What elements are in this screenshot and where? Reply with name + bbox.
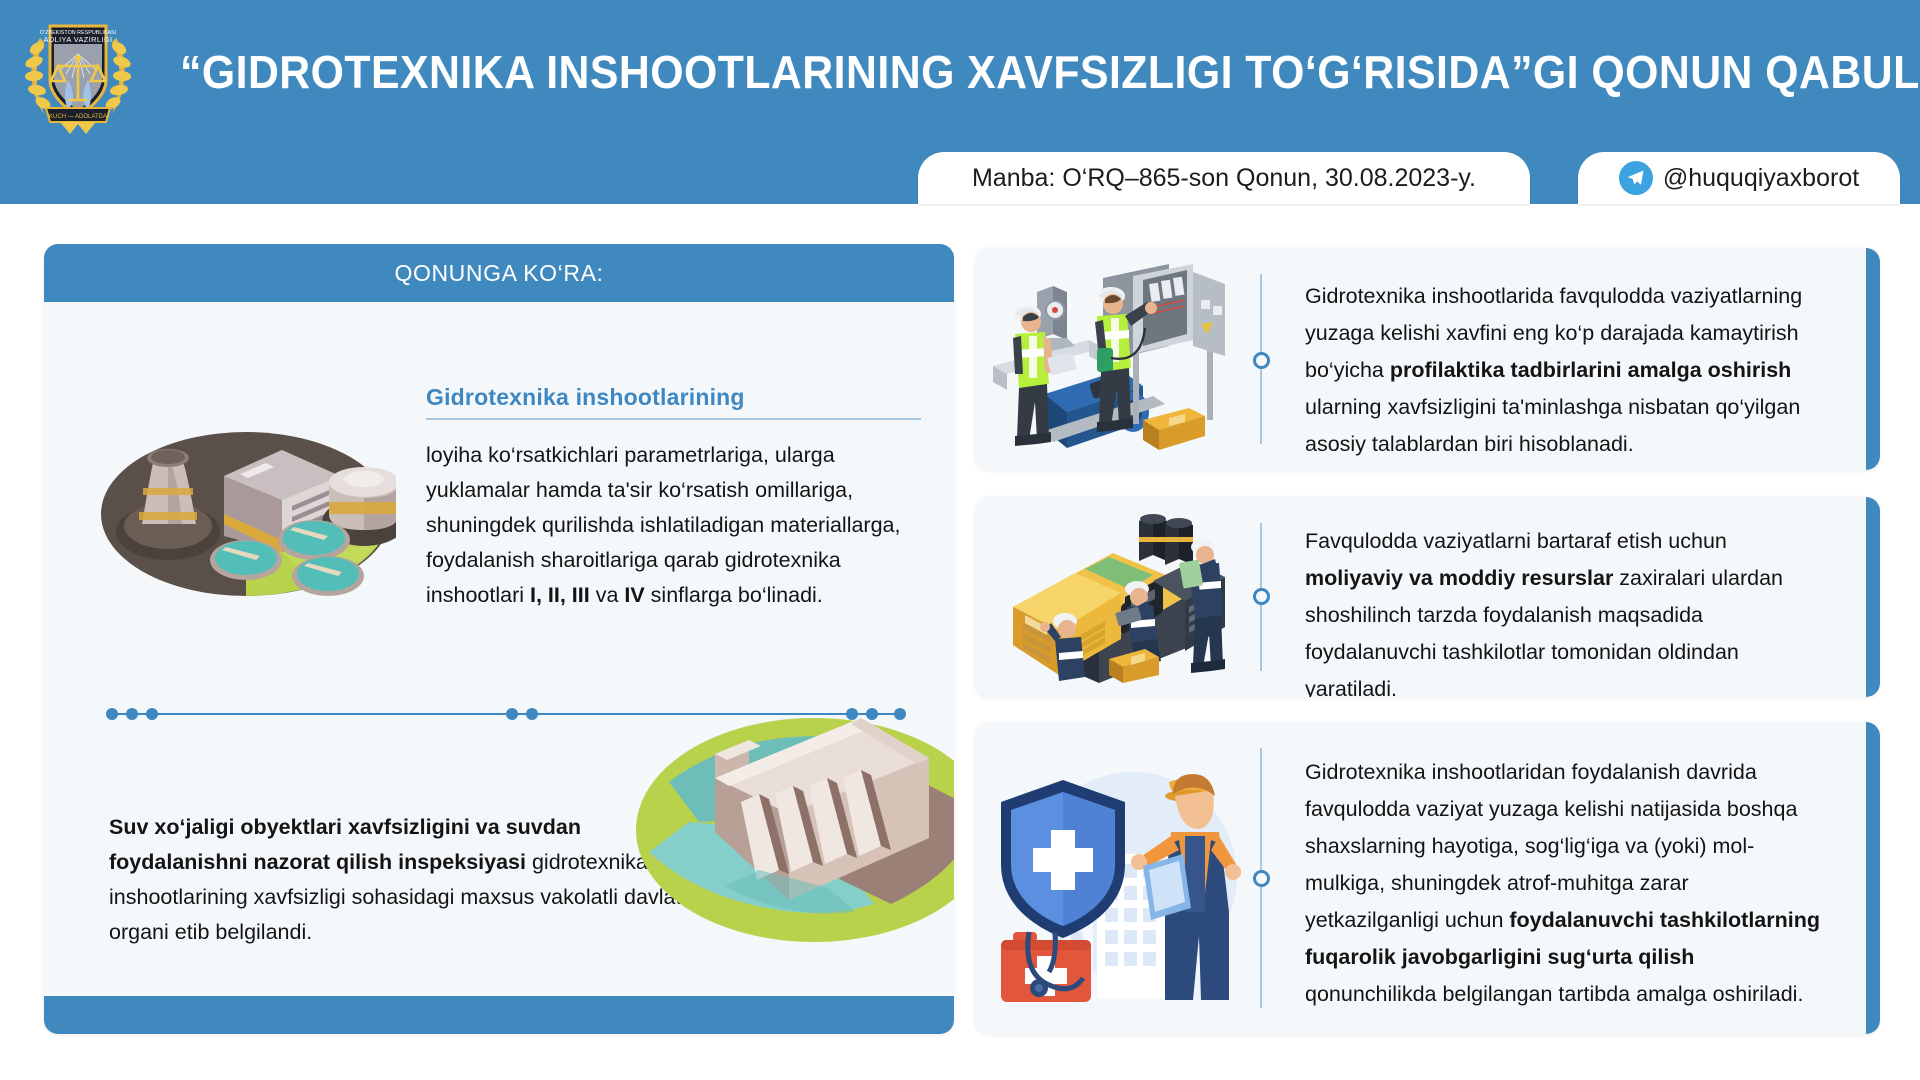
card-text: Gidrotexnika inshootlarida favqulodda va… xyxy=(1305,278,1825,463)
card-text: Favqulodda vaziyatlarni bartaraf etish u… xyxy=(1305,523,1825,697)
paragraph-bottom: Suv xo‘jaligi obyektlari xavfsizligini v… xyxy=(109,810,689,950)
card-bullet-dot xyxy=(1253,870,1270,887)
divider-dot xyxy=(526,708,538,720)
divider-dot xyxy=(106,708,118,720)
card-accent-bar xyxy=(1866,722,1880,1034)
panel-footer-bar xyxy=(44,996,954,1034)
workers-generator-illustration xyxy=(993,511,1243,683)
sub-heading: Gidrotexnika inshootlarining xyxy=(426,384,926,411)
panel-heading: QONUNGA KO‘RA: xyxy=(44,244,954,302)
panel-body: Gidrotexnika inshootlarining loyiha ko‘r… xyxy=(44,302,954,996)
industrial-plant-illustration xyxy=(96,364,396,604)
emblem-ribbon-text: KUCH — ADOLATDA xyxy=(49,114,107,120)
paragraph-top: loyiha ko‘rsatkichlari parametrlariga, u… xyxy=(426,438,936,613)
source-text: Manba: O‘RQ–865-son Qonun, 30.08.2023-y. xyxy=(972,164,1476,193)
info-card: Gidrotexnika inshootlaridan foydalanish … xyxy=(975,722,1880,1034)
card-accent-bar xyxy=(1866,248,1880,470)
card-accent-bar xyxy=(1866,497,1880,697)
emblem-main-text: ADLIYA VAZIRLIGI xyxy=(44,35,113,44)
ministry-of-justice-emblem: O‘ZBEKISTON RESPUBLIKASI ADLIYA VAZIRLIG… xyxy=(20,8,136,134)
sub-heading-rule xyxy=(426,418,921,420)
info-card: Favqulodda vaziyatlarni bartaraf etish u… xyxy=(975,497,1880,697)
telegram-handle: @huquqiyaxborot xyxy=(1663,164,1859,193)
source-badge: Manba: O‘RQ–865-son Qonun, 30.08.2023-y. xyxy=(918,152,1530,204)
workers-pump-panel-illustration xyxy=(993,262,1243,456)
insurance-shield-illustration xyxy=(993,736,1243,1020)
info-card: Gidrotexnika inshootlarida favqulodda va… xyxy=(975,248,1880,470)
card-text: Gidrotexnika inshootlaridan foydalanish … xyxy=(1305,754,1825,1013)
law-summary-panel: QONUNGA KO‘RA: xyxy=(44,244,954,1034)
dam-illustration xyxy=(629,662,954,962)
divider-dot xyxy=(126,708,138,720)
card-bullet-dot xyxy=(1253,588,1270,605)
page-title: “GIDROTEXNIKA INSHOOTLARINING XAVFSIZLIG… xyxy=(180,36,1780,108)
divider-dot xyxy=(146,708,158,720)
telegram-icon xyxy=(1619,161,1653,195)
telegram-badge[interactable]: @huquqiyaxborot xyxy=(1578,152,1900,204)
card-bullet-dot xyxy=(1253,352,1270,369)
divider-dot xyxy=(506,708,518,720)
page-header: O‘ZBEKISTON RESPUBLIKASI ADLIYA VAZIRLIG… xyxy=(0,0,1920,204)
